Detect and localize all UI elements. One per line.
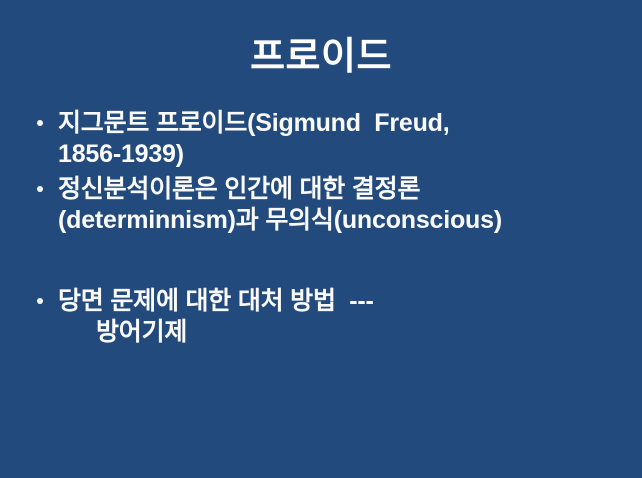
page-title: 프로이드 — [0, 34, 642, 80]
presentation-slide: 프로이드 지그문트 프로이드(Sigmund Freud, 1856-1939)… — [0, 0, 642, 478]
bullet-psychoanalytic-theory: 정신분석이론은 인간에 대한 결정론 (determinnism)과 무의식(u… — [32, 174, 622, 236]
bullet-line: 지그문트 프로이드(Sigmund Freud, — [58, 108, 622, 139]
bullet-line: 정신분석이론은 인간에 대한 결정론 — [58, 174, 622, 205]
blank-line-spacer — [32, 240, 622, 286]
bullet-line: 당면 문제에 대한 대처 방법 --- — [58, 286, 622, 317]
bullet-text-block: 지그문트 프로이드(Sigmund Freud, 1856-1939) — [58, 108, 622, 170]
bullet-dot-icon — [37, 120, 43, 126]
bullet-line: (determinnism)과 무의식(unconscious) — [58, 205, 622, 236]
bullet-dot-icon — [37, 298, 43, 304]
slide-body-content: 지그문트 프로이드(Sigmund Freud, 1856-1939) 정신분석… — [32, 108, 622, 352]
bullet-dot-icon — [37, 186, 43, 192]
bullet-line: 방어기제 — [58, 317, 622, 348]
bullet-sigmund-freud: 지그문트 프로이드(Sigmund Freud, 1856-1939) — [32, 108, 622, 170]
bullet-defense-mechanism: 당면 문제에 대한 대처 방법 --- 방어기제 — [32, 286, 622, 348]
bullet-text-block: 당면 문제에 대한 대처 방법 --- 방어기제 — [58, 286, 622, 348]
bullet-text-block: 정신분석이론은 인간에 대한 결정론 (determinnism)과 무의식(u… — [58, 174, 622, 236]
bullet-line: 1856-1939) — [58, 139, 622, 170]
